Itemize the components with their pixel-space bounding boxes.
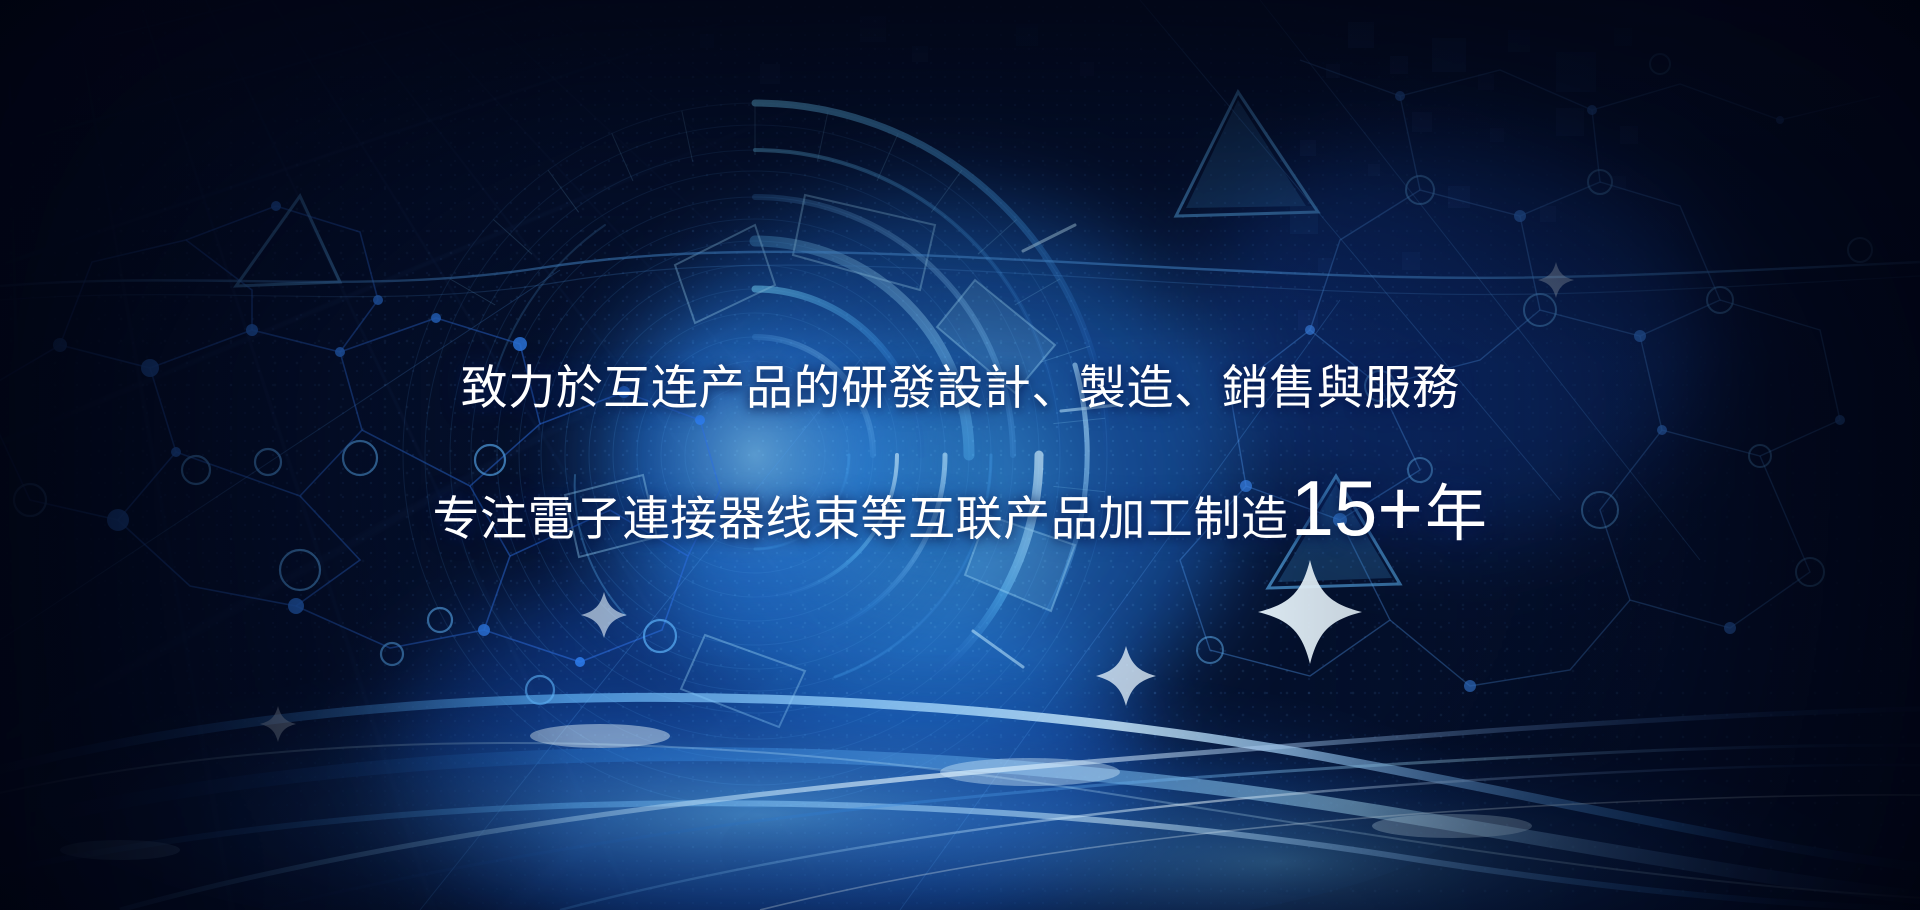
hero-banner: 致力於互连产品的研發設計、製造、銷售與服務 专注電子連接器线束等互联产品加工制造…	[0, 0, 1920, 910]
years-unit-label: 年	[1425, 484, 1488, 546]
headline-line-2-prefix: 专注電子連接器线束等互联产品加工制造	[432, 495, 1288, 542]
years-count: 15+	[1291, 469, 1423, 547]
headline-line-1: 致力於互连产品的研發設計、製造、銷售與服務	[461, 364, 1460, 411]
headline-line-2: 专注電子連接器线束等互联产品加工制造 15+ 年	[432, 469, 1487, 547]
hero-copy: 致力於互连产品的研發設計、製造、銷售與服務 专注電子連接器线束等互联产品加工制造…	[0, 0, 1920, 910]
